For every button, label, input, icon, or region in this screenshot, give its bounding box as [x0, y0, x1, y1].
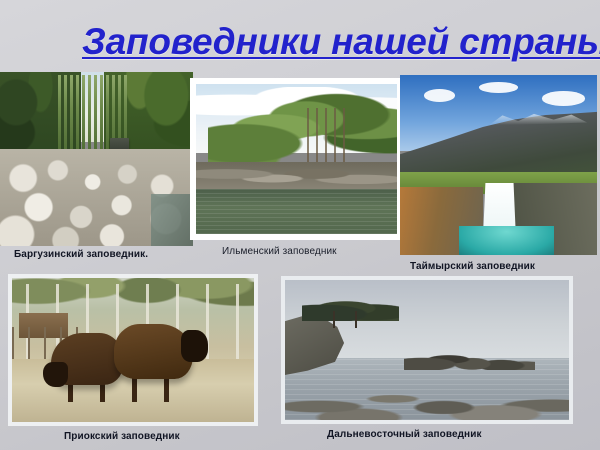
sea-stacks — [404, 342, 535, 370]
photo-dalnevostochny[interactable] — [285, 280, 569, 420]
shore-boulders — [285, 372, 569, 420]
pine-trunks — [325, 311, 376, 328]
cloud — [424, 89, 456, 102]
caption-dalnevostochny: Дальневосточный заповедник — [327, 429, 482, 440]
photo-barguzinsky[interactable] — [0, 72, 193, 246]
page-title: Заповедники нашей страны — [82, 20, 587, 64]
turquoise-pool — [459, 226, 554, 255]
bison-two-head — [181, 330, 208, 362]
cloud — [542, 91, 585, 105]
caption-taimyrsky: Таймырский заповедник — [410, 261, 535, 272]
forest-canopy — [208, 93, 397, 165]
caption-priokskiy: Приокский заповедник — [64, 431, 180, 442]
water-ripples — [196, 189, 397, 234]
photo-priokskiy[interactable] — [12, 278, 254, 422]
caption-ilmensky: Ильменский заповедник — [222, 246, 337, 257]
rocky-shore — [196, 162, 397, 192]
cloud — [479, 82, 518, 93]
river-water — [151, 194, 193, 246]
photo-ilmensky[interactable] — [196, 84, 397, 234]
bison-one-head — [43, 362, 67, 388]
caption-barguzinsky: Баргузинский заповедник. — [14, 249, 148, 260]
photo-taimyrsky[interactable] — [400, 75, 597, 255]
presentation-slide: Заповедники нашей страны Баргузинский за… — [0, 0, 600, 450]
